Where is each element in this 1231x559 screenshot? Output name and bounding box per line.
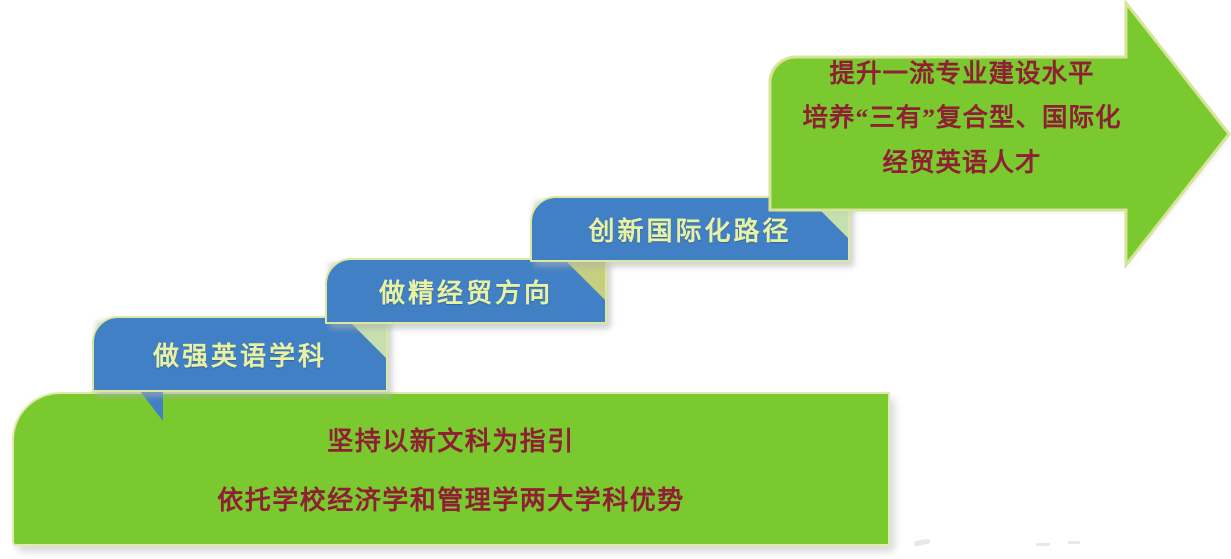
foundation-line-1: 坚持以新文科为指引 xyxy=(327,421,575,458)
foundation-line-2: 依托学校经济学和管理学两大学科优势 xyxy=(217,480,685,517)
artifact-mark-3 xyxy=(1068,541,1080,544)
goal-arrow-text: 提升一流专业建设水平 培养“三有”复合型、国际化 经贸英语人才 xyxy=(762,52,1162,185)
goal-line-3: 经贸英语人才 xyxy=(762,141,1162,185)
goal-line-2: 培养“三有”复合型、国际化 xyxy=(762,96,1162,140)
step-box-2-label: 做精经贸方向 xyxy=(325,258,607,324)
step-box-2[interactable]: 做精经贸方向 xyxy=(325,258,607,324)
diagram-canvas: 坚持以新文科为指引 依托学校经济学和管理学两大学科优势 做强英语学科 做精经贸方… xyxy=(0,0,1231,559)
artifact-mark-1 xyxy=(914,538,931,546)
goal-line-1: 提升一流专业建设水平 xyxy=(762,52,1162,96)
artifact-mark-2 xyxy=(1036,543,1050,546)
goal-arrow[interactable]: 提升一流专业建设水平 培养“三有”复合型、国际化 经贸英语人才 xyxy=(748,0,1231,275)
